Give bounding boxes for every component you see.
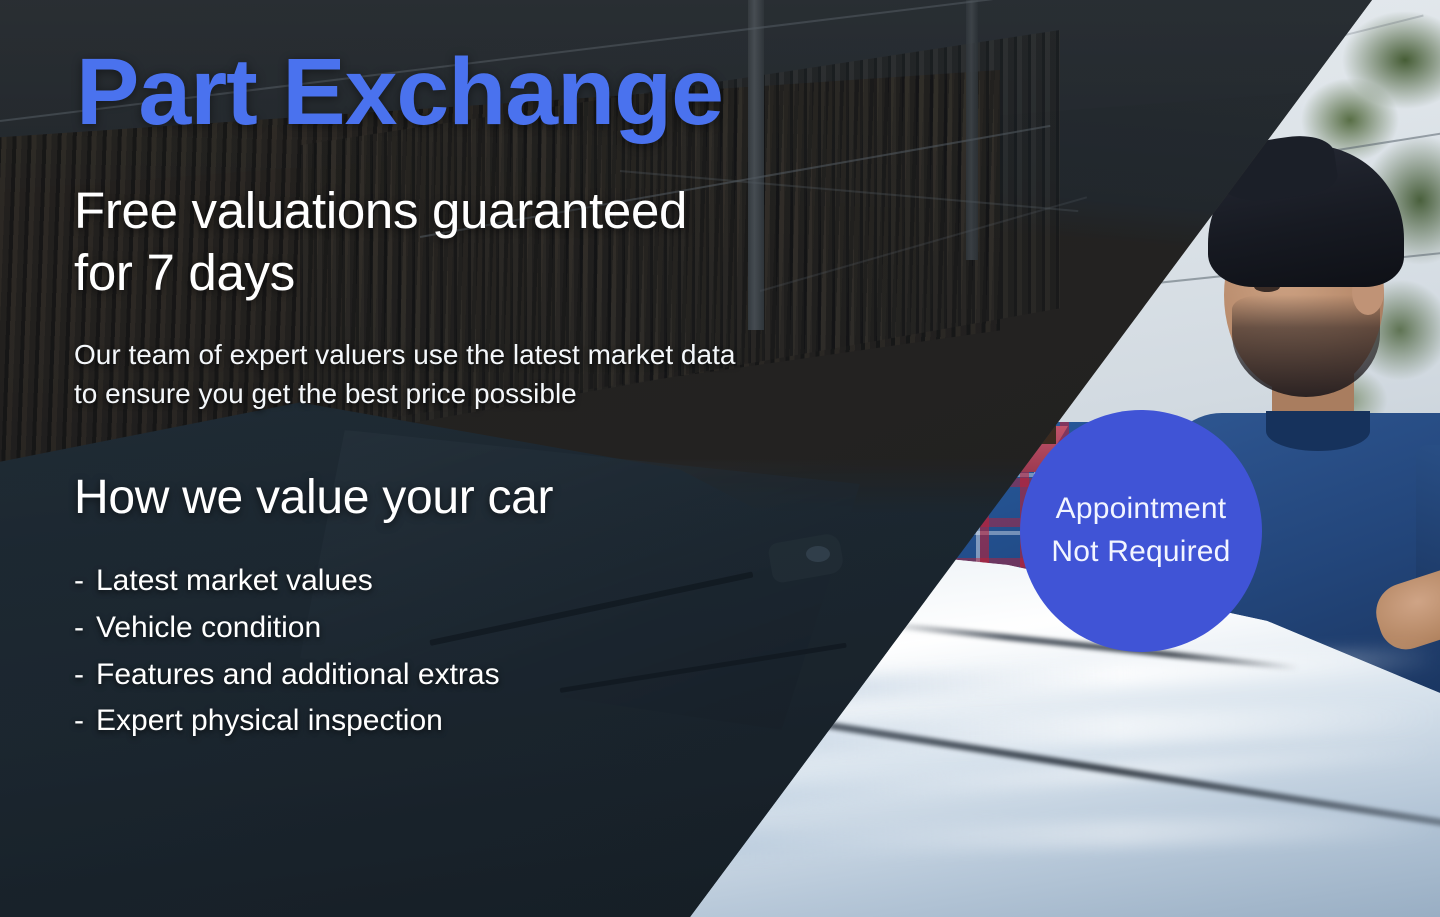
bullet-marker: - (74, 652, 96, 699)
badge-line-1: Appointment (1056, 488, 1227, 531)
valuation-criteria-list: -Latest market values -Vehicle condition… (74, 558, 500, 745)
list-item: -Latest market values (74, 558, 500, 605)
subtitle-line-1: Free valuations guaranteed (74, 180, 687, 242)
banner-description: Our team of expert valuers use the lates… (74, 336, 735, 413)
banner-content: Part Exchange Free valuations guaranteed… (0, 0, 1440, 917)
bullet-marker: - (74, 698, 96, 745)
appointment-badge: Appointment Not Required (1020, 410, 1262, 652)
bullet-marker: - (74, 605, 96, 652)
section-heading: How we value your car (74, 470, 553, 525)
list-item: -Vehicle condition (74, 605, 500, 652)
part-exchange-banner: Part Exchange Free valuations guaranteed… (0, 0, 1440, 917)
bullet-marker: - (74, 558, 96, 605)
list-item: -Expert physical inspection (74, 698, 500, 745)
list-item: -Features and additional extras (74, 652, 500, 699)
list-item-label: Vehicle condition (96, 611, 321, 644)
list-item-label: Expert physical inspection (96, 704, 443, 737)
description-line-2: to ensure you get the best price possibl… (74, 375, 735, 414)
banner-subtitle: Free valuations guaranteed for 7 days (74, 180, 687, 304)
badge-line-2: Not Required (1051, 531, 1230, 574)
list-item-label: Features and additional extras (96, 658, 500, 691)
description-line-1: Our team of expert valuers use the lates… (74, 336, 735, 375)
subtitle-line-2: for 7 days (74, 242, 687, 304)
list-item-label: Latest market values (96, 564, 373, 597)
banner-title: Part Exchange (76, 45, 723, 140)
